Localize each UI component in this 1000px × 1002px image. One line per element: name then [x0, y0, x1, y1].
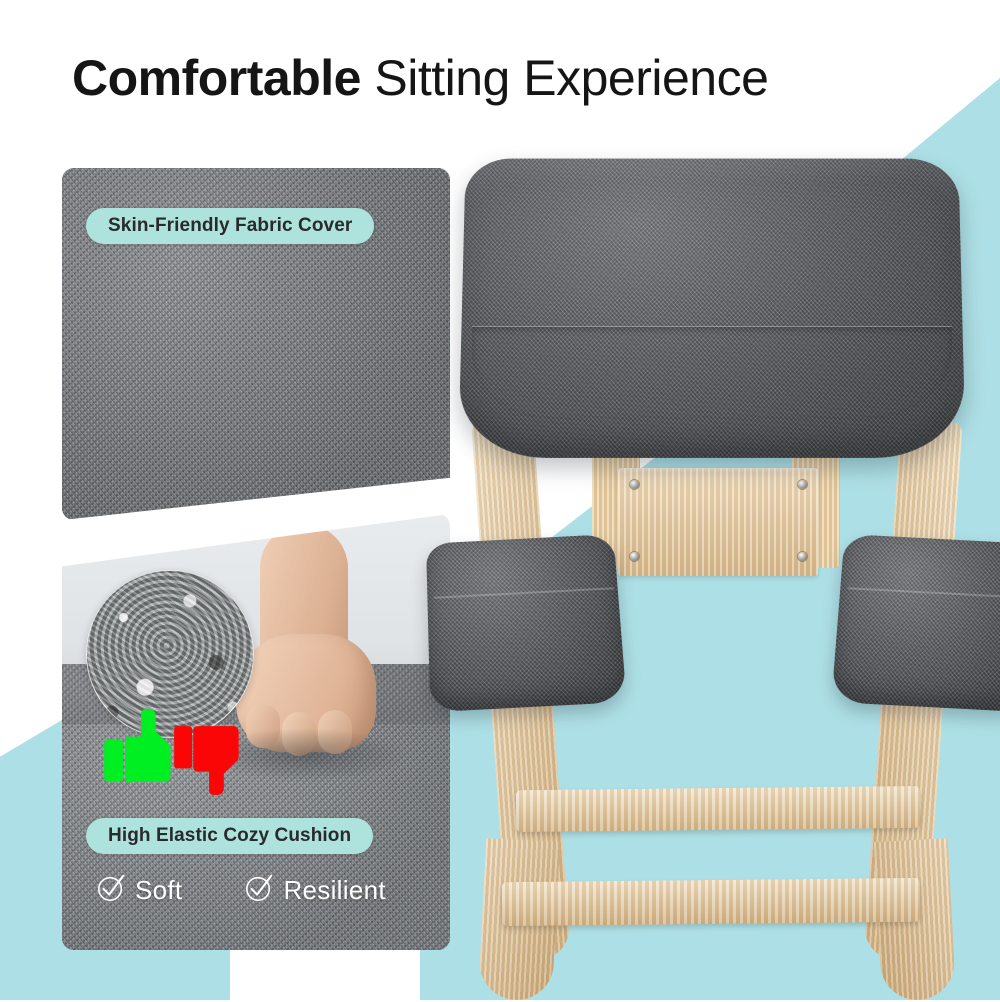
fabric-cover-badge: Skin-Friendly Fabric Cover	[86, 208, 374, 244]
feature-soft: Soft	[96, 873, 182, 908]
screw-bottom-left	[630, 552, 639, 561]
page-title-light: Sitting Experience	[374, 50, 768, 106]
thumbs-down-icon	[174, 724, 242, 798]
support-rail-upper	[516, 786, 920, 832]
page-title: Comfortable Sitting Experience	[72, 48, 952, 108]
cross-brace-panel	[618, 468, 818, 576]
seat-cushion	[458, 159, 966, 458]
product-photo-kneeling-chair	[440, 140, 1000, 1000]
feature-resilient-label: Resilient	[283, 875, 385, 906]
cushion-feature-list: Soft Resilient	[96, 873, 386, 908]
knee-pad-right	[831, 534, 1000, 712]
check-circle-icon	[96, 873, 126, 908]
screw-bottom-right	[798, 552, 807, 561]
fabric-cover-badge-label: Skin-Friendly Fabric Cover	[108, 215, 352, 237]
knee-pad-left	[426, 534, 627, 712]
cushion-badge-label: High Elastic Cozy Cushion	[108, 825, 351, 847]
cushion-badge: High Elastic Cozy Cushion	[86, 818, 373, 854]
screw-top-right	[798, 480, 807, 489]
check-circle-icon	[244, 873, 274, 908]
page-title-bold: Comfortable	[72, 50, 361, 106]
feature-panels: Skin-Friendly Fabric Cover	[62, 168, 450, 950]
thumbs-up-icon	[104, 704, 178, 784]
feature-resilient: Resilient	[244, 873, 385, 908]
support-rail-lower	[502, 878, 920, 926]
feature-soft-label: Soft	[135, 875, 182, 906]
screw-top-left	[630, 480, 639, 489]
